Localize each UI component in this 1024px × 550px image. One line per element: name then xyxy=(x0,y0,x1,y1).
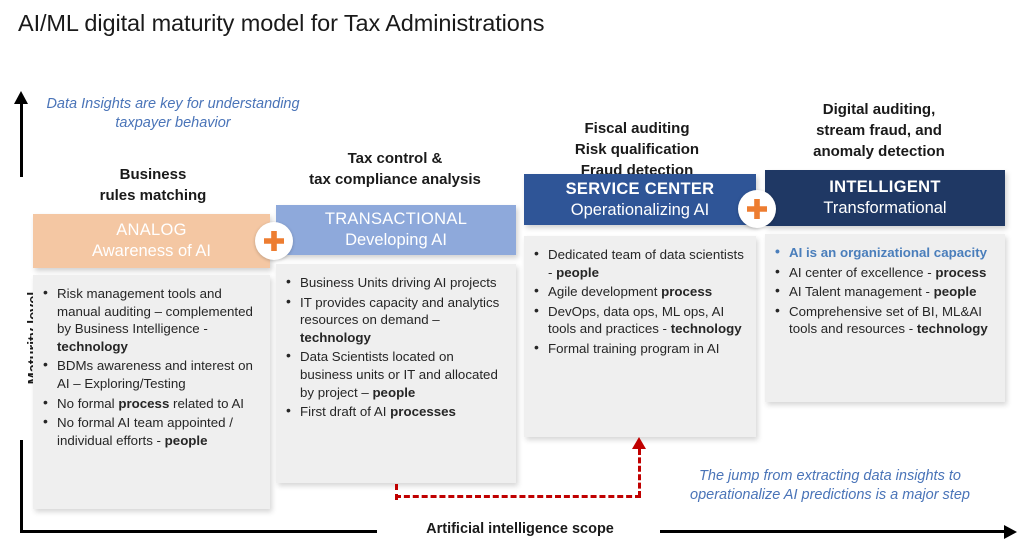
stage-panel-analog: Risk management tools and manual auditin… xyxy=(33,275,270,509)
caption-line: rules matching xyxy=(40,185,266,206)
stage-header-transactional[interactable]: TRANSACTIONAL Developing AI xyxy=(276,205,516,255)
scope-axis-arrow-icon xyxy=(1004,525,1017,539)
stage-title: INTELLIGENT xyxy=(765,177,1005,198)
plus-icon xyxy=(738,190,776,228)
stage-header-service-center[interactable]: SERVICE CENTER Operationalizing AI xyxy=(524,174,756,225)
bullet-item: First draft of AI processes xyxy=(284,403,506,421)
stage-header-analog[interactable]: ANALOG Awareness of AI xyxy=(33,214,270,268)
stage-caption-intelligent: Digital auditing,stream fraud, andanomal… xyxy=(766,99,992,162)
stage-subtitle: Operationalizing AI xyxy=(524,200,756,221)
note-jump-major-step: The jump from extracting data insights t… xyxy=(672,467,988,505)
bullet-item: No formal AI team appointed / individual… xyxy=(41,414,260,449)
stage-subtitle: Awareness of AI xyxy=(33,241,270,262)
jump-arrow-segment-across xyxy=(395,495,641,498)
stage-bullet-list: Risk management tools and manual auditin… xyxy=(41,285,260,449)
stage-title: SERVICE CENTER xyxy=(524,179,756,200)
caption-line: Business xyxy=(40,164,266,185)
maturity-axis-arrow-icon xyxy=(14,91,28,104)
bullet-item: Data Scientists located on business unit… xyxy=(284,348,506,401)
plus-icon xyxy=(255,222,293,260)
bullet-item: Agile development process xyxy=(532,283,746,301)
stage-panel-service-center: Dedicated team of data scientists - peop… xyxy=(524,236,756,437)
stage-caption-transactional: Tax control &tax compliance analysis xyxy=(282,148,508,190)
stage-panel-transactional: Business Units driving AI projectsIT pro… xyxy=(276,264,516,483)
page-title: AI/ML digital maturity model for Tax Adm… xyxy=(18,10,818,37)
stage-title: ANALOG xyxy=(33,220,270,241)
maturity-axis-upper-line xyxy=(20,102,23,177)
bullet-item: Formal training program in AI xyxy=(532,340,746,358)
note-data-insights: Data Insights are key for understanding … xyxy=(28,95,318,133)
stage-title: TRANSACTIONAL xyxy=(276,209,516,230)
stage-bullet-list: Business Units driving AI projectsIT pro… xyxy=(284,274,506,421)
bullet-item: Risk management tools and manual auditin… xyxy=(41,285,260,355)
bullet-item: Dedicated team of data scientists - peop… xyxy=(532,246,746,281)
caption-line: Tax control & xyxy=(282,148,508,169)
caption-line: anomaly detection xyxy=(766,141,992,162)
jump-arrow-head-icon xyxy=(632,437,646,449)
bullet-item: AI is an organizational capacity xyxy=(773,244,995,262)
stage-panel-intelligent: AI is an organizational capacityAI cente… xyxy=(765,234,1005,402)
caption-line: Fiscal auditing xyxy=(524,118,750,139)
stage-header-intelligent[interactable]: INTELLIGENT Transformational xyxy=(765,170,1005,226)
stage-subtitle: Developing AI xyxy=(276,230,516,251)
caption-line: stream fraud, and xyxy=(766,120,992,141)
bullet-item: BDMs awareness and interest on AI – Expl… xyxy=(41,357,260,392)
stage-bullet-list: AI is an organizational capacityAI cente… xyxy=(773,244,995,338)
stage-caption-analog: Businessrules matching xyxy=(40,164,266,206)
stage-bullet-list: Dedicated team of data scientists - peop… xyxy=(532,246,746,358)
scope-axis-right-line xyxy=(660,530,1008,533)
stage-caption-service-center: Fiscal auditingRisk qualificationFraud d… xyxy=(524,118,750,181)
caption-line: Digital auditing, xyxy=(766,99,992,120)
bullet-item: No formal process related to AI xyxy=(41,395,260,413)
scope-axis-left-line xyxy=(20,530,377,533)
caption-line: tax compliance analysis xyxy=(282,169,508,190)
caption-line: Risk qualification xyxy=(524,139,750,160)
bullet-item: IT provides capacity and analytics resou… xyxy=(284,294,506,347)
stage-subtitle: Transformational xyxy=(765,198,1005,219)
bullet-item: AI Talent management - people xyxy=(773,283,995,301)
jump-arrow-segment-up xyxy=(638,449,641,497)
bullet-item: DevOps, data ops, ML ops, AI tools and p… xyxy=(532,303,746,338)
maturity-axis-lower-line xyxy=(20,440,23,533)
bullet-item: Comprehensive set of BI, ML&AI tools and… xyxy=(773,303,995,338)
bullet-item: AI center of excellence - process xyxy=(773,264,995,282)
x-axis-label: Artificial intelligence scope xyxy=(400,521,640,537)
bullet-item: Business Units driving AI projects xyxy=(284,274,506,292)
